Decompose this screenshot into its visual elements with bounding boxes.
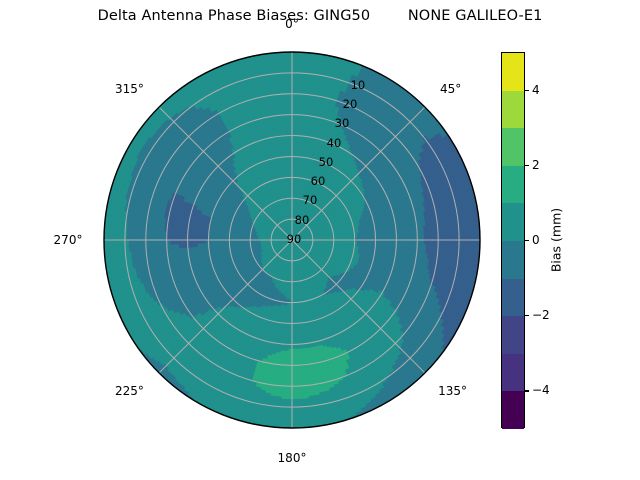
radial-tick-label-90: 90 <box>287 232 302 246</box>
colorbar-segment <box>502 279 524 317</box>
colorbar-label: Bias (mm) <box>549 208 564 272</box>
colorbar-segment <box>502 354 524 392</box>
colorbar-segment <box>502 203 524 241</box>
azimuth-tick-label-225: 225° <box>115 384 144 398</box>
figure-canvas: Delta Antenna Phase Biases: GING50 NONE … <box>0 0 640 480</box>
colorbar-gradient <box>501 52 525 428</box>
colorbar-tick-label: −4 <box>532 383 550 397</box>
colorbar-segment <box>502 166 524 204</box>
page-title: Delta Antenna Phase Biases: GING50 NONE … <box>0 8 640 24</box>
colorbar-tick <box>525 390 529 391</box>
colorbar-tick <box>525 165 529 166</box>
radial-tick-label-10: 10 <box>351 78 366 92</box>
azimuth-tick-label-315: 315° <box>115 82 144 96</box>
radial-tick-label-40: 40 <box>327 136 342 150</box>
colorbar-tick-label: 2 <box>532 158 540 172</box>
colorbar-tick-label: 4 <box>532 83 540 97</box>
radial-tick-label-80: 80 <box>295 213 310 227</box>
colorbar-tick <box>525 315 529 316</box>
colorbar-segment <box>502 91 524 129</box>
radial-tick-label-60: 60 <box>311 174 326 188</box>
radial-tick-label-70: 70 <box>303 193 318 207</box>
colorbar-segment <box>502 128 524 166</box>
azimuth-tick-label-270: 270° <box>54 233 83 247</box>
colorbar: 420−2−4 <box>501 52 525 428</box>
colorbar-tick-label: −2 <box>532 308 550 322</box>
azimuth-tick-label-45: 45° <box>440 82 461 96</box>
radial-tick-label-50: 50 <box>319 155 334 169</box>
radial-tick-label-20: 20 <box>343 97 358 111</box>
colorbar-tick <box>525 240 529 241</box>
colorbar-tick-label: 0 <box>532 233 540 247</box>
azimuth-tick-label-180: 180° <box>278 451 307 465</box>
azimuth-tick-label-135: 135° <box>438 384 467 398</box>
colorbar-segment <box>502 391 524 429</box>
radial-tick-label-30: 30 <box>335 116 350 130</box>
polar-plot: 0°45°90135°180°225°270°315°1020304050607… <box>104 52 480 428</box>
colorbar-segment <box>502 316 524 354</box>
colorbar-tick <box>525 90 529 91</box>
colorbar-segment <box>502 53 524 91</box>
colorbar-segment <box>502 241 524 279</box>
azimuth-tick-label-0: 0° <box>285 17 299 31</box>
